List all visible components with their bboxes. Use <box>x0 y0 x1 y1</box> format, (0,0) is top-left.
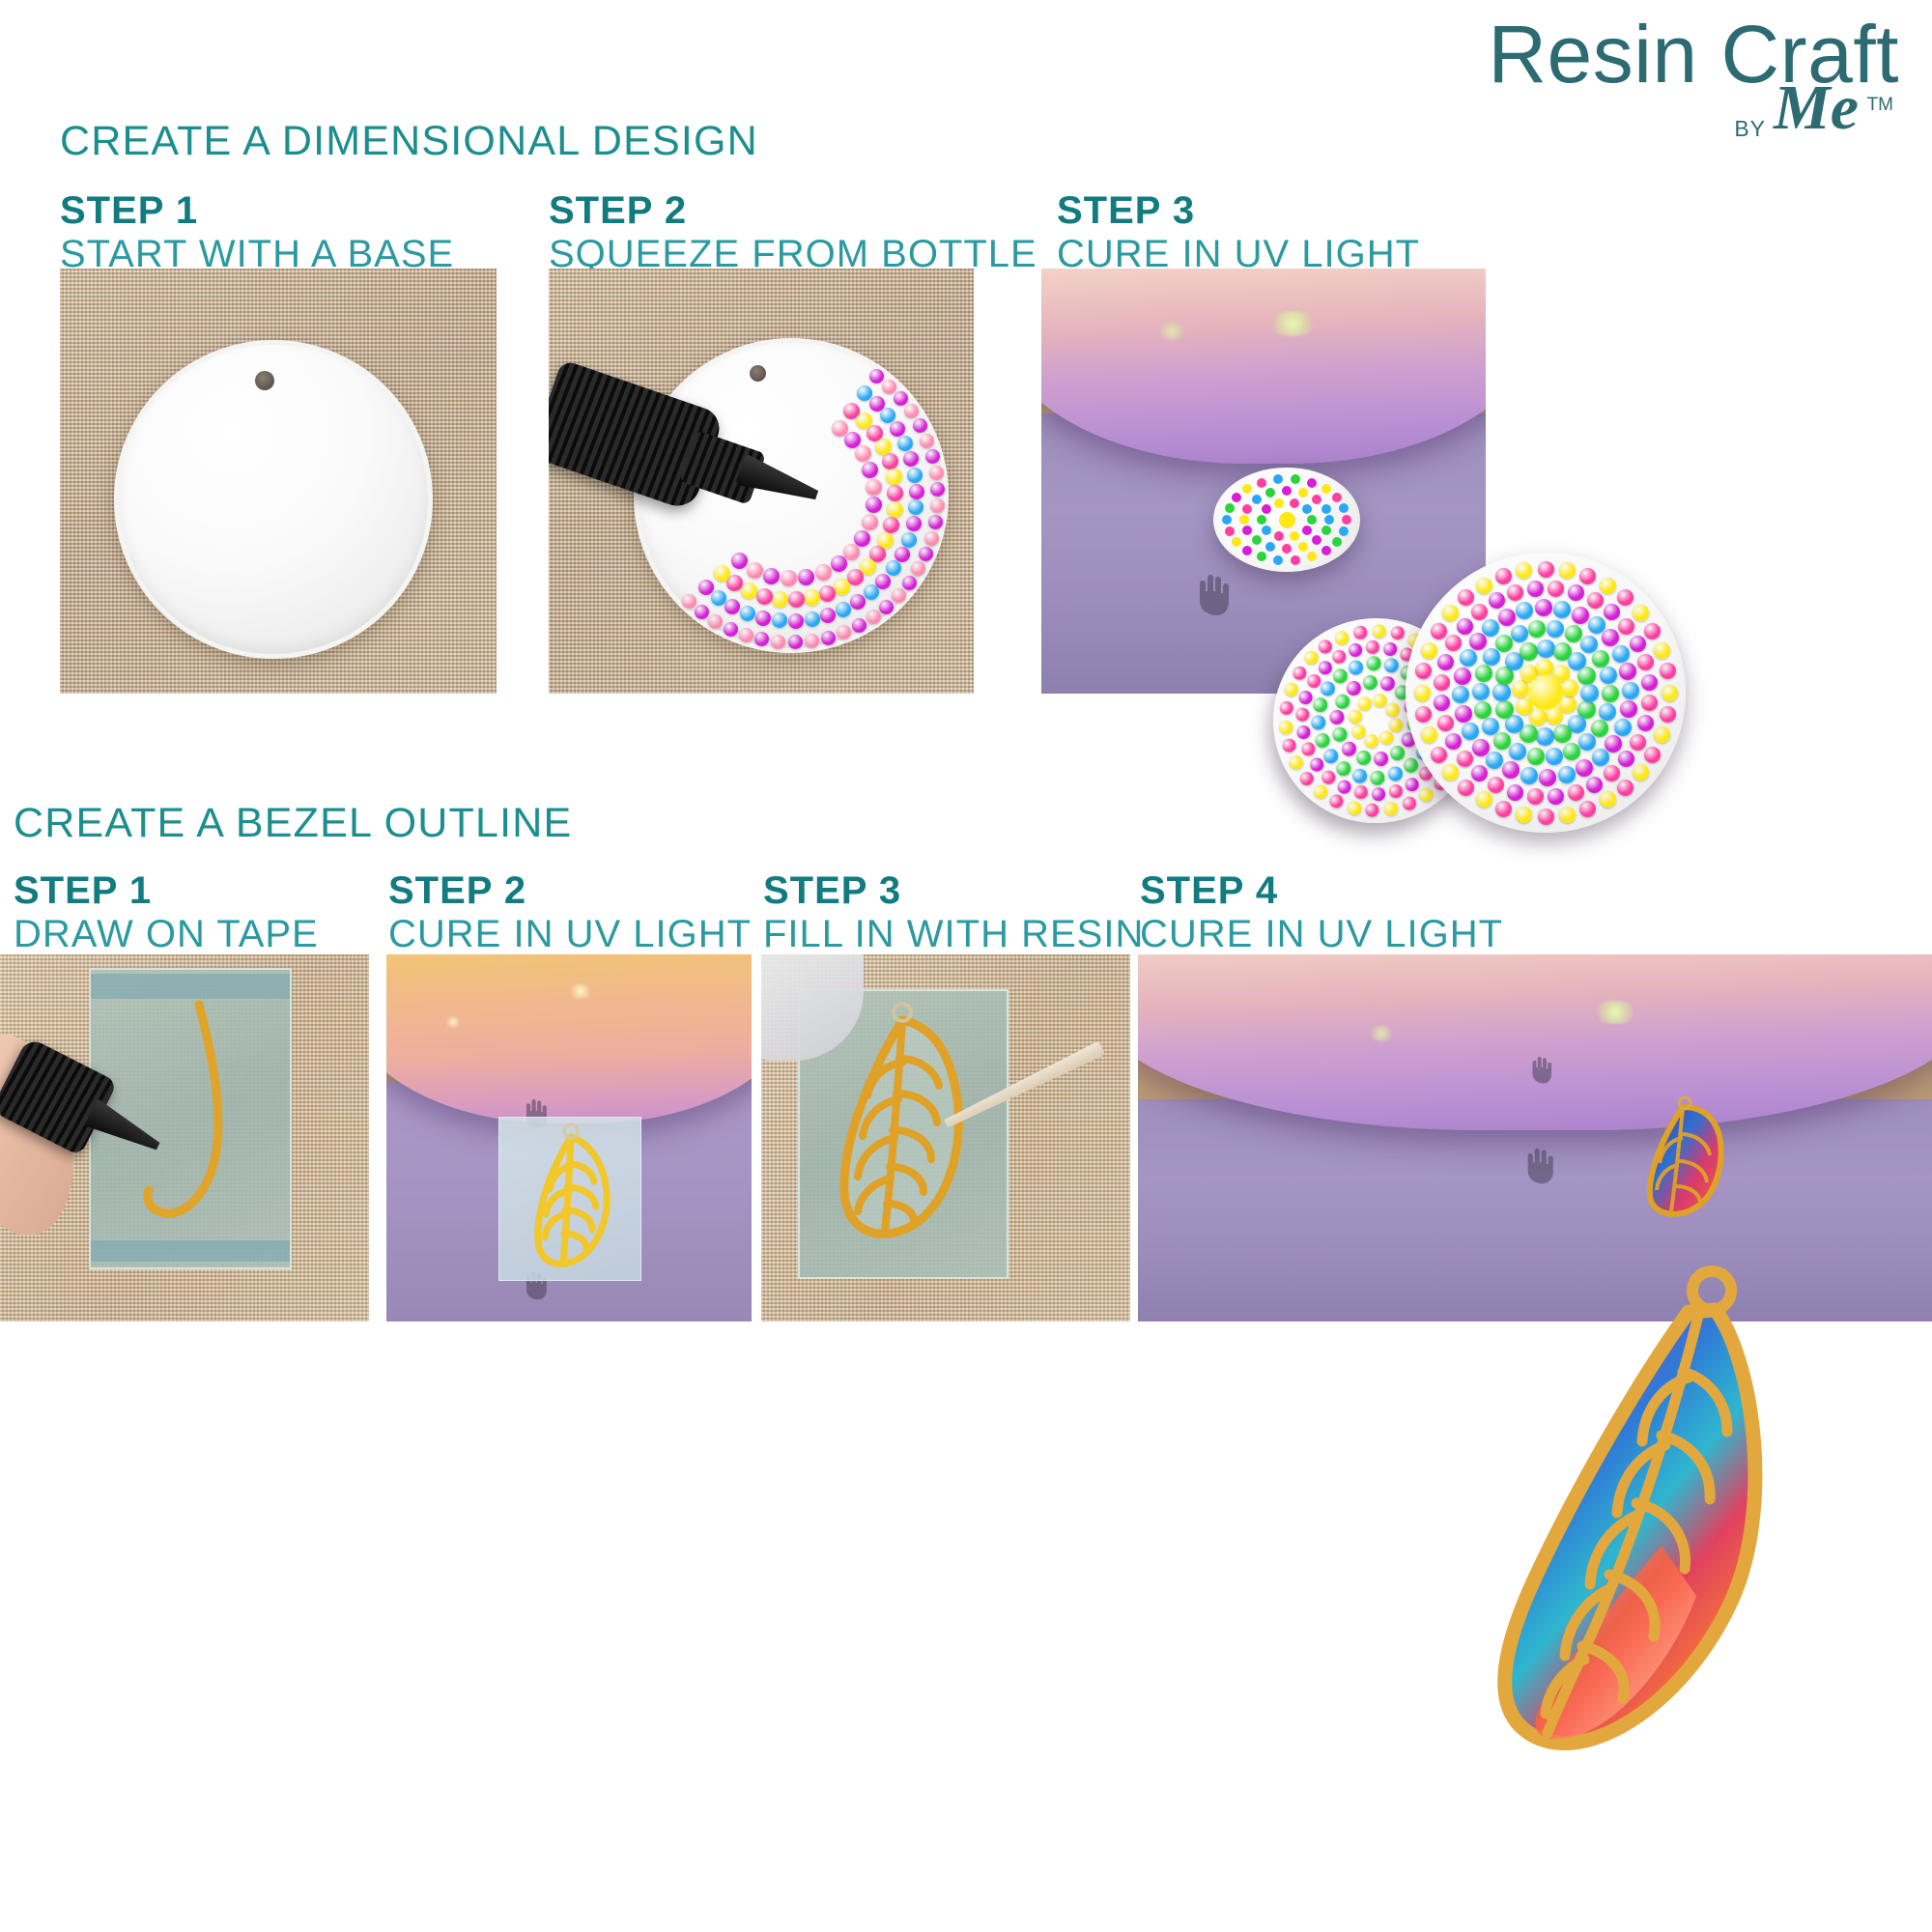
resin-dot <box>1600 791 1616 808</box>
resin-dot <box>1331 667 1350 685</box>
resin-dot <box>1225 503 1235 513</box>
resin-dot <box>1578 733 1596 751</box>
resin-dot <box>1414 685 1431 701</box>
step-label-1-1: STEP 1 START WITH A BASE <box>60 189 454 276</box>
resin-dot <box>1312 696 1330 715</box>
resin-dot <box>1307 478 1317 488</box>
resin-dot <box>1495 801 1512 817</box>
resin-dot <box>1348 708 1364 724</box>
resin-dot <box>1274 498 1284 508</box>
trademark-symbol: TM <box>1867 95 1893 116</box>
resin-dot <box>1572 607 1589 624</box>
step-description: CURE IN UV LIGHT <box>388 913 752 956</box>
tape-sheet-on-pad <box>498 1117 641 1281</box>
resin-dot <box>1602 629 1619 646</box>
resin-dot <box>1347 641 1363 658</box>
step-number: STEP 4 <box>1140 869 1503 913</box>
resin-dot <box>1553 601 1571 618</box>
resin-dot <box>1586 777 1603 793</box>
resin-dot <box>1617 589 1634 606</box>
resin-dot <box>740 606 755 621</box>
resin-dot <box>1445 635 1462 651</box>
resin-dot <box>1317 659 1333 675</box>
resin-dot <box>1600 578 1616 594</box>
resin-dot <box>852 618 867 633</box>
resin-dot <box>1602 685 1619 702</box>
resin-dot <box>1511 625 1528 642</box>
uv-lamp-hood <box>1138 954 1932 1130</box>
resin-dot <box>1321 546 1331 555</box>
resin-dot <box>919 547 933 561</box>
resin-dot <box>1265 488 1275 497</box>
resin-dot <box>1539 769 1556 786</box>
resin-dot <box>1471 604 1488 620</box>
resin-dot <box>883 517 899 533</box>
resin-dot <box>1294 706 1311 723</box>
resin-dot <box>788 591 805 608</box>
resin-dot <box>906 516 922 531</box>
resin-dot <box>1310 714 1328 732</box>
resin-dot <box>1307 515 1317 525</box>
resin-dot <box>755 611 771 626</box>
resin-dot <box>1307 552 1317 561</box>
resin-dot <box>1548 788 1564 805</box>
resin-dot <box>902 576 917 590</box>
resin-dot <box>1442 605 1459 621</box>
resin-dot <box>1317 638 1333 654</box>
resin-dot <box>821 631 836 645</box>
uv-led-glow <box>1267 311 1318 336</box>
resin-dot <box>1384 701 1401 718</box>
resin-dot <box>831 555 847 572</box>
step-description: FILL IN WITH RESIN <box>763 913 1144 956</box>
resin-dot <box>1535 599 1552 616</box>
resin-dot <box>1605 735 1622 753</box>
resin-dot <box>1278 699 1294 716</box>
brand-logo: Resin Craft BY Me TM <box>1488 14 1899 149</box>
resin-dot <box>1345 680 1363 698</box>
resin-dot <box>1587 592 1604 609</box>
resin-dot <box>1294 724 1311 740</box>
resin-dot <box>1372 750 1390 768</box>
hand-icon <box>1194 572 1231 616</box>
resin-dot <box>1308 756 1324 773</box>
resin-dot <box>1580 684 1599 702</box>
resin-dot <box>1333 629 1350 645</box>
resin-dot <box>895 547 910 562</box>
resin-dot <box>1281 737 1297 753</box>
resin-dot <box>1421 642 1437 659</box>
resin-dot <box>1339 526 1349 536</box>
resin-dot <box>1654 642 1670 659</box>
resin-dot <box>1633 764 1649 781</box>
resin-dot <box>1242 484 1252 494</box>
resin-dot <box>1620 700 1637 718</box>
resin-dot <box>1382 801 1399 817</box>
resin-dot <box>1225 526 1235 536</box>
step-number: STEP 1 <box>60 189 454 233</box>
resin-dot <box>1619 663 1636 680</box>
resin-dot <box>882 453 898 469</box>
resin-dot <box>1641 674 1658 691</box>
resin-dot <box>1577 667 1596 685</box>
resin-dot <box>1364 802 1380 818</box>
resin-dot <box>1536 659 1553 676</box>
resin-dot <box>1618 751 1634 767</box>
resin-dot <box>1312 495 1321 504</box>
resin-dot <box>1442 764 1459 781</box>
resin-dot <box>1457 751 1473 767</box>
photo-squeeze-from-bottle <box>549 269 974 694</box>
resin-dot <box>1332 537 1342 547</box>
resin-dot <box>907 468 923 483</box>
resin-dot <box>1330 725 1349 744</box>
resin-dot <box>1644 623 1661 639</box>
resin-dot <box>1312 783 1328 800</box>
resin-dot <box>1492 683 1511 701</box>
resin-dot <box>1291 474 1300 484</box>
resin-dot <box>1520 767 1538 784</box>
resin-dot <box>1431 623 1447 639</box>
resin-dot <box>739 628 753 642</box>
resin-dot <box>1288 754 1304 771</box>
resin-dot <box>724 622 738 637</box>
resin-dot <box>1618 618 1634 635</box>
resin-dot <box>698 580 714 595</box>
resin-dot <box>1437 654 1454 670</box>
resin-dot <box>929 466 944 480</box>
resin-dot <box>1520 642 1538 661</box>
resin-dot <box>864 584 879 600</box>
finished-leaf-pendant-large <box>1468 1256 1797 1797</box>
resin-dot <box>1298 770 1315 786</box>
resin-dot <box>1332 493 1342 502</box>
resin-dot <box>875 574 891 589</box>
resin-dot <box>1352 784 1369 801</box>
resin-dot <box>1493 732 1511 750</box>
resin-dot <box>724 599 740 614</box>
resin-dot <box>1568 584 1584 601</box>
resin-dot <box>1592 749 1609 766</box>
resin-dot <box>1604 604 1620 620</box>
cured-leaf-pendant-small <box>1633 1095 1733 1227</box>
resin-dot <box>1313 731 1331 750</box>
resin-dot <box>1495 700 1514 719</box>
resin-dot <box>1278 719 1294 735</box>
resin-dot <box>924 531 939 546</box>
resin-dot <box>815 564 832 581</box>
resin-dot <box>1232 493 1241 502</box>
resin-dot <box>1537 639 1555 658</box>
resin-dot-center <box>1279 512 1295 528</box>
resin-dot <box>1355 749 1374 767</box>
uv-led-glow <box>444 1016 462 1028</box>
ornament-hanging-hole <box>255 371 274 390</box>
resin-dot <box>1273 474 1283 484</box>
resin-dot <box>1563 743 1580 760</box>
resin-dot <box>1321 484 1331 494</box>
resin-dot <box>1516 807 1532 823</box>
resin-dot <box>1547 620 1564 638</box>
ornament-hanging-hole <box>750 365 766 382</box>
resin-dot <box>1591 720 1608 737</box>
resin-dot <box>1462 723 1479 740</box>
resin-dot <box>1282 544 1292 554</box>
resin-dot <box>1458 780 1474 796</box>
step-description: CURE IN UV LIGHT <box>1140 913 1503 956</box>
resin-dot <box>772 591 788 608</box>
step-description: DRAW ON TAPE <box>14 913 319 956</box>
resin-dot <box>1330 648 1347 665</box>
resin-dot <box>1382 657 1401 675</box>
resin-dot <box>1386 765 1405 783</box>
photo-start-with-a-base <box>60 269 497 694</box>
resin-dot <box>1387 782 1404 799</box>
resin-dot <box>1378 729 1395 746</box>
resin-dot <box>1320 680 1338 698</box>
resin-dot <box>1546 707 1563 724</box>
resin-dot <box>1321 769 1337 785</box>
resin-dot <box>1512 680 1529 697</box>
uv-lamp-hood <box>386 954 752 1123</box>
resin-dot <box>1445 733 1462 750</box>
resin-dot <box>1417 786 1434 803</box>
resin-dot <box>1298 488 1308 497</box>
resin-dot <box>1475 665 1492 682</box>
resin-dot <box>1662 685 1678 701</box>
resin-dot <box>711 590 726 606</box>
step-number: STEP 2 <box>388 869 752 913</box>
resin-dot <box>1401 796 1417 812</box>
resin-dot <box>1565 625 1582 642</box>
resin-dot <box>763 568 780 584</box>
photo-cure-uv-leaf-outline <box>386 954 752 1321</box>
resin-dot <box>1476 578 1492 594</box>
resin-dot <box>1324 515 1334 525</box>
resin-dot <box>1222 515 1232 525</box>
resin-dot <box>1283 682 1299 698</box>
resin-dot <box>1242 526 1252 535</box>
resin-dot <box>909 484 924 499</box>
uv-led-glow <box>1368 1026 1395 1041</box>
resin-dot <box>1527 581 1544 597</box>
section-title-dimensional: CREATE A DIMENSIONAL DESIGN <box>60 118 758 165</box>
resin-dot <box>1252 535 1262 545</box>
resin-dot <box>1335 759 1353 778</box>
resin-dot <box>1257 515 1266 525</box>
resin-dot <box>1612 645 1630 663</box>
resin-dot <box>1599 703 1616 721</box>
resin-dot <box>1559 807 1576 823</box>
resin-dot <box>1434 695 1450 711</box>
resin-dot <box>1637 654 1654 670</box>
resin-dot <box>1483 648 1500 666</box>
resin-dot <box>1486 752 1503 769</box>
resin-dot <box>1460 649 1477 667</box>
resin-dot <box>1558 766 1576 783</box>
resin-dot <box>925 449 940 464</box>
resin-dot <box>832 420 848 437</box>
resin-dot <box>819 585 836 602</box>
photo-fill-in-with-resin <box>761 954 1130 1321</box>
step-label-2-1: STEP 1 DRAW ON TAPE <box>14 869 319 956</box>
resin-dot <box>1498 609 1516 626</box>
resin-dot <box>1507 584 1523 601</box>
step-label-1-2: STEP 2 SQUEEZE FROM BOTTLE <box>549 189 1037 276</box>
resin-dot <box>1528 620 1546 638</box>
resin-dot <box>1660 706 1676 723</box>
resin-dot <box>1576 759 1593 777</box>
ornament-curing <box>1213 468 1360 572</box>
resin-dot <box>1527 788 1544 805</box>
resin-dot <box>1257 552 1266 561</box>
resin-dot <box>866 479 882 496</box>
resin-dot <box>1580 636 1598 653</box>
resin-dot <box>862 514 878 530</box>
resin-dot <box>1458 589 1474 606</box>
resin-dot <box>1378 675 1397 694</box>
resin-dot <box>854 530 870 547</box>
resin-dot <box>1364 655 1382 673</box>
resin-dot <box>1328 793 1345 810</box>
resin-dot <box>1469 633 1487 650</box>
resin-dot <box>1302 526 1312 535</box>
resin-dot <box>1333 693 1351 711</box>
resin-dot <box>866 497 882 513</box>
resin-dot <box>1257 478 1266 488</box>
photo-draw-on-tape <box>0 954 369 1321</box>
resin-dot <box>1476 791 1492 808</box>
resin-dot <box>1291 555 1300 565</box>
resin-dot <box>1265 542 1275 552</box>
resin-dot <box>1630 636 1646 652</box>
brand-me-label: Me <box>1774 71 1859 145</box>
resin-dot <box>1382 640 1399 657</box>
resin-dot <box>1489 592 1505 609</box>
brand-by-label: BY <box>1734 116 1766 142</box>
resin-dot <box>1495 635 1513 652</box>
resin-dot <box>1291 665 1307 681</box>
step-number: STEP 2 <box>549 189 1037 233</box>
resin-dot <box>1321 526 1331 535</box>
resin-dot <box>867 610 881 624</box>
resin-dot <box>1488 777 1504 793</box>
resin-dot <box>1561 679 1578 696</box>
resin-dot <box>1389 625 1406 641</box>
resin-dot <box>1273 555 1283 565</box>
uv-lamp-hood <box>1041 269 1486 464</box>
resin-dot <box>1502 761 1520 779</box>
resin-dot <box>1361 673 1379 692</box>
hand-icon <box>1528 1055 1553 1084</box>
resin-dot <box>1637 715 1654 731</box>
resin-dot <box>1622 682 1639 699</box>
resin-dot <box>1641 695 1658 711</box>
resin-dot <box>1546 748 1563 765</box>
resin-dot <box>887 501 903 518</box>
step-label-2-3: STEP 3 FILL IN WITH RESIN <box>763 869 1144 956</box>
resin-dot <box>1472 739 1490 756</box>
resin-dot <box>1299 741 1316 757</box>
resin-dot <box>1298 542 1308 552</box>
resin-dot <box>1507 784 1523 801</box>
resin-dot <box>1617 780 1634 796</box>
resin-dot <box>805 611 820 627</box>
resin-dot <box>1242 504 1252 514</box>
resin-dot <box>1415 706 1432 723</box>
resin-dot <box>1516 562 1532 579</box>
resin-dot <box>1369 769 1387 787</box>
resin-dot <box>1600 667 1617 684</box>
resin-dot <box>1364 639 1380 655</box>
resin-dot <box>1336 779 1352 795</box>
resin-dot <box>901 532 917 548</box>
resin-dot <box>1421 726 1437 743</box>
resin-dot <box>1370 785 1386 802</box>
resin-dot <box>1431 747 1447 763</box>
resin-dot <box>1579 801 1596 817</box>
resin-dot <box>1527 748 1545 765</box>
hand-icon <box>1522 1146 1555 1184</box>
resin-dot <box>1472 683 1490 700</box>
resin-dot <box>892 588 906 603</box>
resin-dot <box>1452 686 1469 703</box>
resin-dot <box>1536 727 1554 746</box>
resin-dot <box>1579 568 1596 584</box>
resin-dot <box>1371 622 1387 639</box>
step-number: STEP 3 <box>1057 189 1420 233</box>
resin-dot <box>1328 708 1347 726</box>
resin-dot <box>788 613 804 629</box>
resin-dot <box>1347 658 1365 676</box>
resin-dot-center <box>1528 675 1563 710</box>
resin-dot <box>1592 650 1609 668</box>
yellow-leaf-bezel-outline <box>499 1118 642 1282</box>
resin-dot <box>1509 743 1526 760</box>
resin-dot <box>1471 765 1488 781</box>
resin-dot <box>1482 619 1499 637</box>
resin-dot <box>882 380 896 394</box>
resin-dot <box>1262 526 1271 535</box>
resin-dot <box>1297 689 1314 705</box>
resin-dot <box>1312 535 1321 545</box>
resin-dot <box>1239 515 1249 525</box>
resin-dot <box>1654 726 1670 743</box>
resin-dot <box>1282 486 1292 496</box>
step-number: STEP 1 <box>14 869 319 913</box>
resin-dot <box>1614 719 1632 736</box>
resin-dot <box>1346 800 1362 816</box>
resin-dot <box>1568 784 1584 801</box>
resin-dot <box>1660 663 1676 679</box>
resin-dot <box>756 588 773 605</box>
uv-led-glow <box>568 983 593 999</box>
resin-dot <box>1457 618 1473 635</box>
resin-dot <box>1363 732 1379 749</box>
resin-dot <box>1290 531 1299 541</box>
resin-dot <box>1538 809 1554 825</box>
resin-dot <box>1302 650 1319 667</box>
resin-dot <box>1633 605 1649 621</box>
resin-dot <box>1553 724 1572 743</box>
resin-dot <box>1516 602 1533 619</box>
section-title-bezel: CREATE A BEZEL OUTLINE <box>14 800 572 847</box>
step-label-2-4: STEP 4 CURE IN UV LIGHT <box>1140 869 1503 956</box>
uv-led-glow <box>1157 323 1186 340</box>
resin-dot <box>1351 624 1368 640</box>
finished-mandala-ornament-front <box>1406 553 1686 833</box>
resin-dot <box>1604 765 1620 781</box>
